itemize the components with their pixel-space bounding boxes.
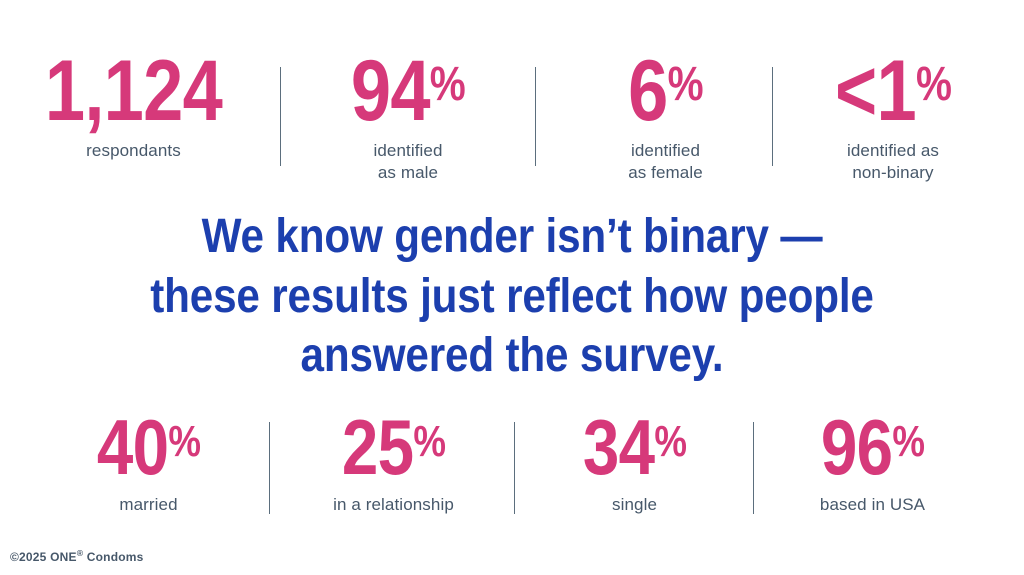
footer-brand-suffix: Condoms xyxy=(83,550,143,564)
divider-slot xyxy=(244,412,296,514)
stat-value-non-binary: <1% xyxy=(835,52,951,131)
stat-label-female: identified as female xyxy=(628,140,703,183)
stat-divider xyxy=(772,67,773,166)
bottom-stats-row: 40% married 25% in a relationship 34% si… xyxy=(0,412,1024,515)
divider-slot xyxy=(766,52,778,166)
stat-value-respondants: 1,124 xyxy=(45,52,222,131)
stat-value-based-in-usa: 96% xyxy=(821,412,924,484)
percent-symbol: % xyxy=(413,417,445,466)
percent-symbol: % xyxy=(668,57,703,111)
stat-value-in-a-relationship: 25% xyxy=(342,412,445,484)
stat-value-male: 94% xyxy=(351,52,465,131)
stat-value-married: 40% xyxy=(97,412,200,484)
headline: We know gender isn’t binary — these resu… xyxy=(0,207,1024,386)
stat-block-non-binary: <1% identified as non-binary xyxy=(778,52,1008,183)
divider-slot xyxy=(506,52,565,166)
stat-label-married: married xyxy=(119,494,177,516)
stat-block-male: 94% identified as male xyxy=(310,52,506,183)
percent-symbol: % xyxy=(916,57,951,111)
stat-block-female: 6% identified as female xyxy=(565,52,766,183)
footer-copyright: ©2025 ONE® Condoms xyxy=(10,550,144,564)
percent-symbol: % xyxy=(654,417,686,466)
stat-divider xyxy=(269,422,270,514)
divider-slot xyxy=(733,412,775,514)
stat-label-respondants: respondants xyxy=(86,140,181,162)
stat-label-male: identified as male xyxy=(373,140,442,183)
stat-block-married: 40% married xyxy=(54,412,244,515)
stat-value-single: 34% xyxy=(583,412,686,484)
headline-line-2: these results just reflect how people xyxy=(61,267,962,327)
stat-block-single: 34% single xyxy=(537,412,733,515)
stat-value-female: 6% xyxy=(628,52,703,131)
percent-symbol: % xyxy=(168,417,200,466)
stat-label-based-in-usa: based in USA xyxy=(820,494,925,516)
stat-label-in-a-relationship: in a relationship xyxy=(333,494,454,516)
headline-line-3: answered the survey. xyxy=(61,326,962,386)
percent-symbol: % xyxy=(892,417,924,466)
top-stats-row: 1,124 respondants 94% identified as male… xyxy=(0,52,1024,183)
stat-block-based-in-usa: 96% based in USA xyxy=(775,412,971,515)
stat-block-respondants: 1,124 respondants xyxy=(16,52,251,162)
infographic-canvas: 1,124 respondants 94% identified as male… xyxy=(0,0,1024,575)
stat-divider xyxy=(535,67,536,166)
stat-label-non-binary: identified as non-binary xyxy=(847,140,939,183)
headline-line-1: We know gender isn’t binary — xyxy=(61,207,962,267)
footer-copyright-text: ©2025 ONE xyxy=(10,550,77,564)
divider-slot xyxy=(492,412,537,514)
stat-divider xyxy=(753,422,754,514)
divider-slot xyxy=(251,52,310,166)
stat-block-in-a-relationship: 25% in a relationship xyxy=(296,412,492,515)
stat-divider xyxy=(514,422,515,514)
stat-label-single: single xyxy=(612,494,657,516)
percent-symbol: % xyxy=(430,57,465,111)
stat-divider xyxy=(280,67,281,166)
